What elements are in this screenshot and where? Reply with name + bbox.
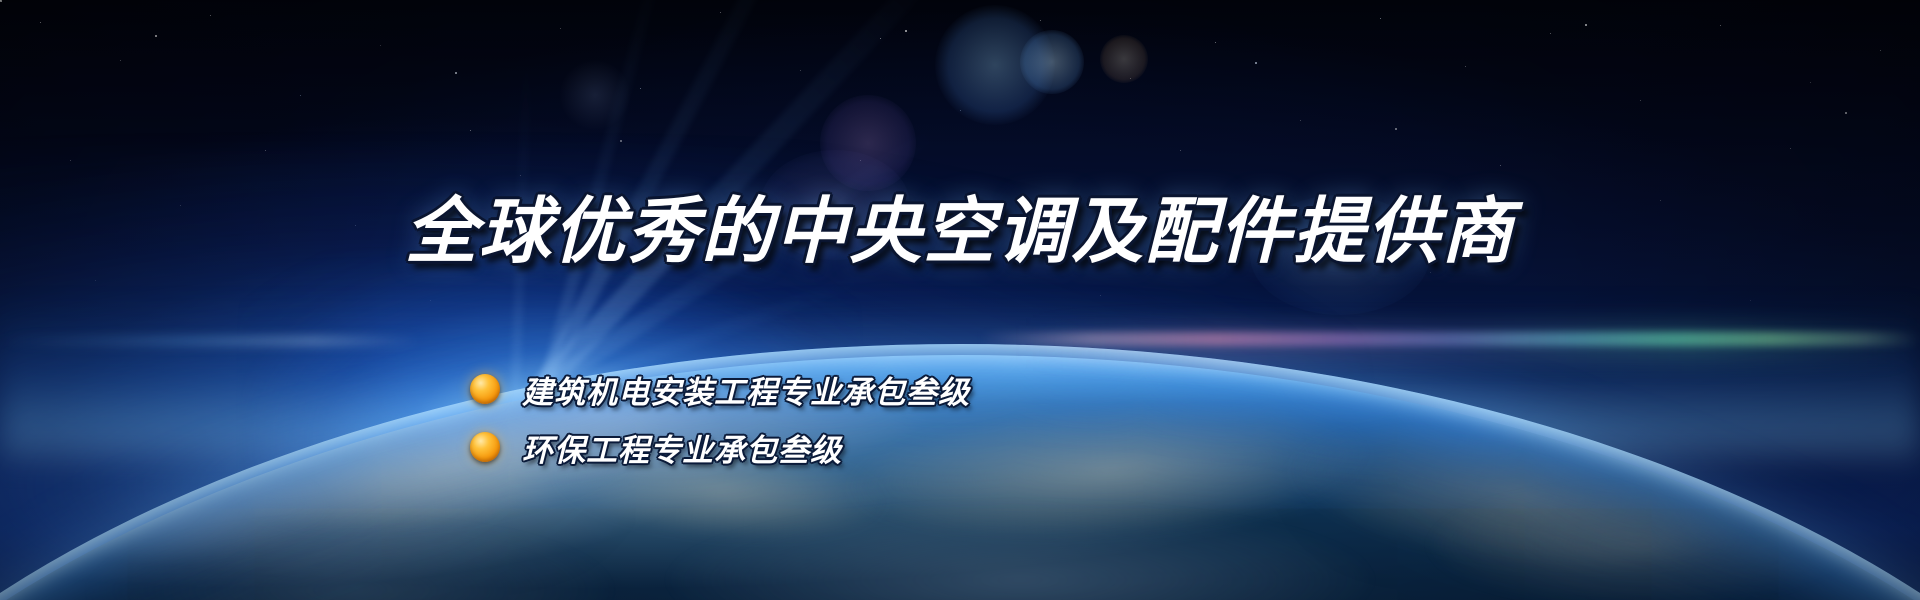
bullet-item: 环保工程专业承包叁级 bbox=[470, 420, 1270, 474]
banner-headline: 全球优秀的中央空调及配件提供商 bbox=[0, 196, 1920, 268]
banner-bullet-list: 建筑机电安装工程专业承包叁级 环保工程专业承包叁级 bbox=[470, 362, 1270, 478]
hero-banner: 全球优秀的中央空调及配件提供商 建筑机电安装工程专业承包叁级 环保工程专业承包叁… bbox=[0, 0, 1920, 600]
bullet-item-label: 建筑机电安装工程专业承包叁级 bbox=[522, 367, 970, 412]
bullet-dot-icon bbox=[470, 374, 500, 404]
banner-content: 全球优秀的中央空调及配件提供商 建筑机电安装工程专业承包叁级 环保工程专业承包叁… bbox=[0, 0, 1920, 600]
bullet-item-label: 环保工程专业承包叁级 bbox=[522, 425, 842, 470]
bullet-dot-icon bbox=[470, 432, 500, 462]
bullet-item: 建筑机电安装工程专业承包叁级 bbox=[470, 362, 1270, 416]
